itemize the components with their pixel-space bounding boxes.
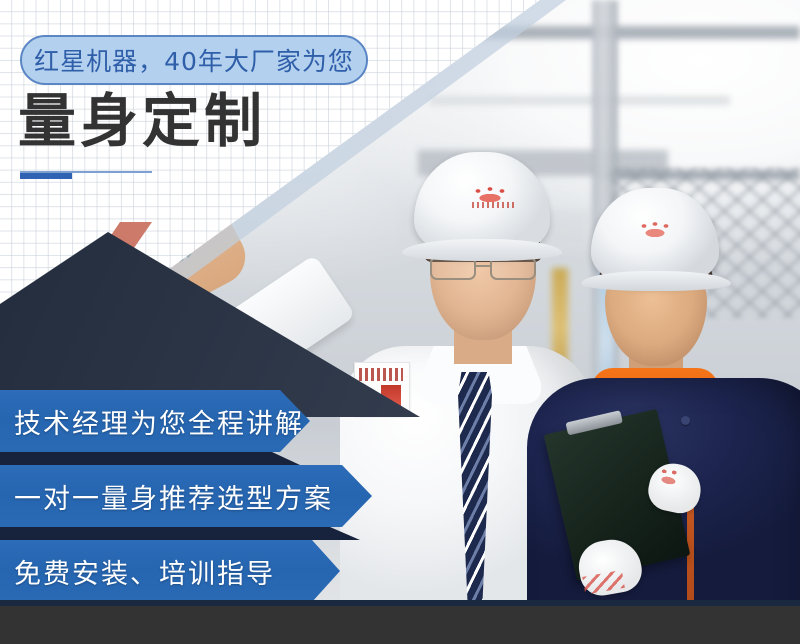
page-title: 量身定制 — [18, 92, 266, 150]
tagline-badge-label: 红星机器，40年大厂家为您 — [34, 42, 354, 78]
jacket-button — [681, 416, 690, 425]
feature-bar-shadow-1 — [0, 452, 300, 465]
helmet-logo — [470, 184, 516, 210]
feature-bar-1-label: 技术经理为您全程讲解 — [14, 402, 304, 441]
tagline-badge: 红星机器，40年大厂家为您 — [20, 35, 368, 85]
feature-bar-2-label: 一对一量身推荐选型方案 — [14, 477, 333, 516]
feature-bar-3: 免费安装、培训指导 — [0, 540, 340, 602]
feature-bar-3-label: 免费安装、培训指导 — [14, 552, 275, 591]
helmet-logo — [637, 220, 679, 244]
bottom-strip — [0, 606, 800, 644]
field-worker-figure — [545, 182, 800, 644]
feature-bar-shadow-2 — [0, 527, 360, 540]
banner-root: 红星机器，40年大厂家为您 量身定制 技术经理为您全程讲解 一对一量身推荐选型方… — [0, 0, 800, 644]
feature-bar-1: 技术经理为您全程讲解 — [0, 390, 310, 452]
headline-rule-thick — [20, 173, 72, 179]
ceiling-beam — [430, 96, 730, 105]
feature-bar-2: 一对一量身推荐选型方案 — [0, 465, 372, 527]
